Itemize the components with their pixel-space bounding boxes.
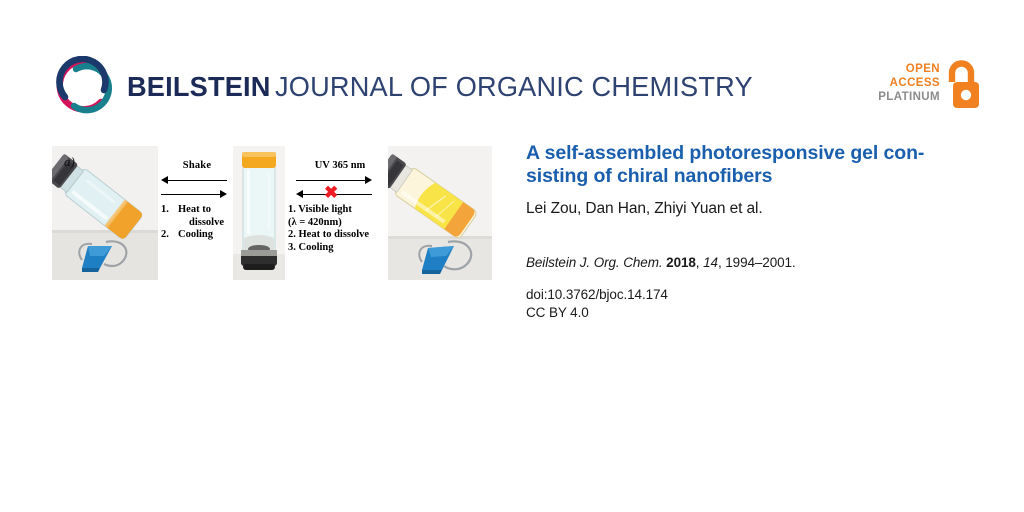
article-doi[interactable]: doi:10.3762/bjoc.14.174 (526, 286, 974, 304)
step-item: 1.Heat to (161, 204, 234, 217)
open-access-badge: OPEN ACCESS PLATINUM (862, 60, 982, 116)
wordmark-beilstein: BEILSTEIN (127, 70, 271, 104)
arrow-right (160, 188, 234, 201)
arrow-caption-shake: Shake (160, 160, 234, 171)
open-access-line-platinum: PLATINUM (878, 90, 940, 104)
citation-sep-2: , (696, 255, 703, 270)
blocked-x-icon: ✖ (324, 187, 338, 199)
article-doi-block: doi:10.3762/bjoc.14.174 CC BY 4.0 (526, 286, 974, 322)
photo-tilted-vial-orange-gel: a) (52, 146, 158, 280)
step-list-shake: 1.Heat to dissolve 2.Cooling (160, 204, 234, 242)
article-info: A self-assembled photoresponsive gel con… (526, 142, 974, 322)
step-continuation: dissolve (161, 217, 234, 230)
step-item: 2. Heat to dissolve (288, 229, 392, 242)
step-list-uv: 1. Visible light (λ = 420nm) 2. Heat to … (288, 204, 392, 254)
open-access-label: OPEN ACCESS PLATINUM (878, 62, 940, 104)
reaction-arrows-shake: Shake 1.Heat to dissolve 2.Cooling (160, 160, 234, 242)
article-title-line-1: A self-assembled photoresponsive gel con… (526, 142, 924, 164)
reaction-arrows-uv: UV 365 nm ✖ 1. Visible light (λ = 420nm)… (288, 160, 392, 254)
arrow-left-blocked: ✖ (288, 188, 392, 201)
arrow-left (160, 174, 234, 187)
citation-pages: 1994–2001. (725, 255, 795, 270)
article-authors: Lei Zou, Dan Han, Zhiyi Yuan et al. (526, 200, 974, 218)
step-item: 1. Visible light (288, 204, 392, 217)
photo-upright-vial-clear-solution (233, 146, 285, 280)
article-citation: Beilstein J. Org. Chem. 2018, 14, 1994–2… (526, 255, 974, 270)
arrow-right (288, 174, 392, 187)
open-padlock-icon (944, 60, 982, 110)
step-text: Heat to (178, 204, 211, 215)
masthead: BEILSTEIN JOURNAL OF ORGANIC CHEMISTRY O… (0, 0, 1024, 132)
arrow-caption-uv: UV 365 nm (288, 160, 392, 171)
graphical-abstract: a) Shake 1.Heat to dissolve 2.Cooling (52, 142, 492, 282)
article-title-line-2: sisting of chiral nanofibers (526, 165, 772, 187)
photo-tilted-vial-yellow-gel (388, 146, 492, 280)
open-access-line-open: OPEN (878, 62, 940, 76)
step-number: 2. (161, 229, 178, 242)
citation-volume: 14 (703, 255, 718, 270)
open-access-line-access: ACCESS (878, 76, 940, 90)
wordmark-journal-of-organic-chemistry: JOURNAL OF ORGANIC CHEMISTRY (275, 70, 753, 104)
article-license[interactable]: CC BY 4.0 (526, 304, 974, 322)
beilstein-triple-arc-logo-icon (54, 56, 116, 118)
step-item: 3. Cooling (288, 242, 392, 255)
citation-year: 2018 (666, 255, 696, 270)
citation-journal: Beilstein J. Org. Chem. (526, 255, 663, 270)
step-item: 2.Cooling (161, 229, 234, 242)
step-item: (λ = 420nm) (288, 217, 392, 230)
article-title[interactable]: A self-assembled photoresponsive gel con… (526, 142, 974, 188)
step-number: 1. (161, 204, 178, 217)
journal-wordmark: BEILSTEIN JOURNAL OF ORGANIC CHEMISTRY (127, 70, 768, 104)
panel-label-a: a) (64, 154, 75, 170)
step-text: Cooling (178, 229, 213, 240)
